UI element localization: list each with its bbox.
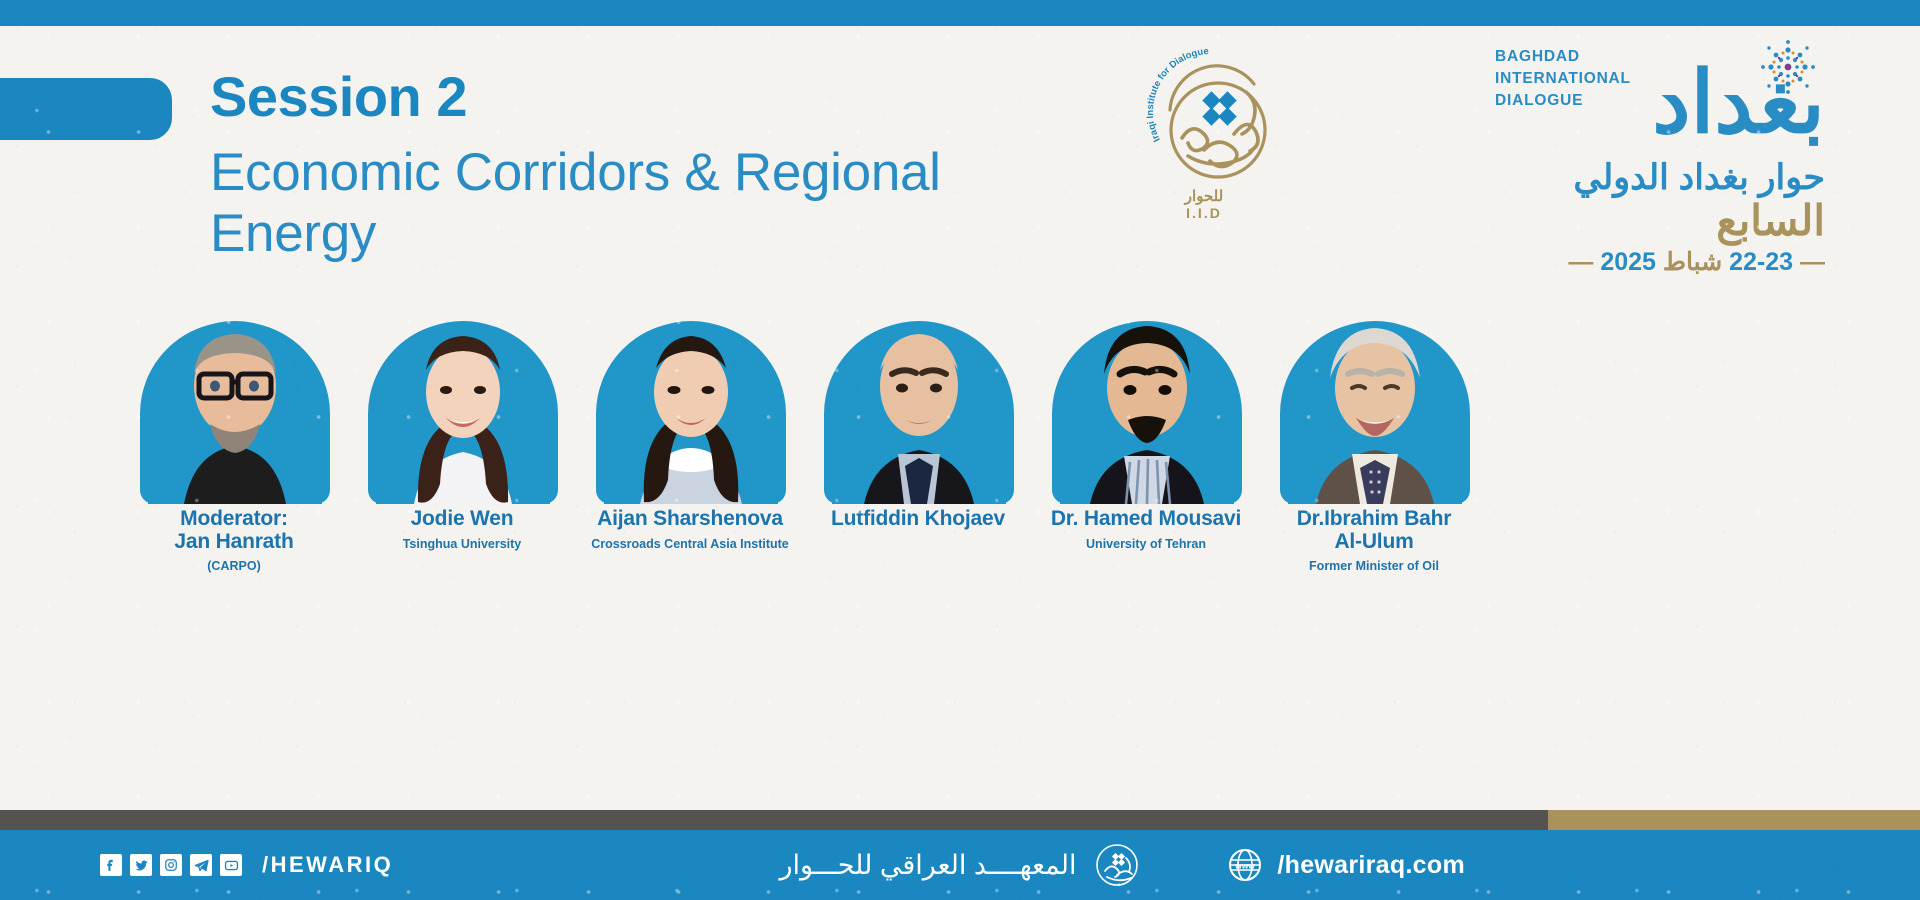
instagram-icon[interactable] (160, 854, 182, 876)
youtube-icon[interactable] (220, 854, 242, 876)
speaker-name: Dr.Ibrahim Bahr Al-Ulum (1246, 508, 1502, 553)
speaker-name-block: Aijan Sharshenova Crossroads Central Asi… (562, 508, 818, 551)
speaker-name-block: Lutfiddin Khojaev (790, 508, 1046, 531)
speaker-photo (1044, 312, 1249, 504)
portrait-ibrahim-bahr-al-ulum (1272, 312, 1477, 504)
accent-bar-gray (0, 810, 1548, 830)
speaker-photo (816, 312, 1021, 504)
heading-block: Session 2 Economic Corridors & Regional … (210, 68, 1110, 265)
baghdad-international-dialogue-logo: BAGHDAD INTERNATIONAL DIALOGUE (1495, 28, 1825, 278)
iid-arabic-word: للحوار (1184, 188, 1223, 205)
speaker-card[interactable]: Dr.Ibrahim Bahr Al-Ulum Former Minister … (1260, 312, 1488, 504)
iid-mark-icon: I.I.D (1093, 841, 1141, 889)
speaker-org: Former Minister of Oil (1246, 560, 1502, 574)
svg-text:I.I.D: I.I.D (1113, 882, 1120, 887)
date-year: 2025 (1600, 248, 1656, 276)
speaker-name-block: Dr.Ibrahim Bahr Al-Ulum Former Minister … (1246, 508, 1502, 574)
speaker-org: Tsinghua University (334, 538, 590, 552)
top-accent-bar (0, 0, 1920, 26)
session-poster: Session 2 Economic Corridors & Regional … (0, 0, 1920, 900)
speaker-card[interactable]: Dr. Hamed Mousavi University of Tehran (1032, 312, 1260, 504)
speaker-card[interactable]: Aijan Sharshenova Crossroads Central Asi… (576, 312, 804, 504)
iid-abbrev: I.I.D (1186, 205, 1222, 221)
footer-bar: /HEWARIQ المعهــــد العراقي للحـــوار (0, 830, 1920, 900)
speaker-name: Jodie Wen (334, 508, 590, 531)
date-month: شباط (1663, 248, 1722, 276)
date-dash-right: — (1800, 248, 1825, 276)
speaker-name: Lutfiddin Khojaev (790, 508, 1046, 531)
bid-arabic-ordinal: السابع (1495, 200, 1825, 242)
speaker-photo (360, 312, 565, 504)
speaker-org: (CARPO) (106, 560, 362, 574)
session-label: Session 2 (210, 68, 1110, 127)
speaker-name-block: Jodie Wen Tsinghua University (334, 508, 590, 551)
date-days: 22-23 (1729, 248, 1793, 276)
portrait-hamed-mousavi (1044, 312, 1249, 504)
speaker-name: Moderator: Jan Hanrath (106, 508, 362, 553)
portrait-jodie-wen (360, 312, 565, 504)
www-globe-icon: www (1227, 847, 1263, 883)
website-url[interactable]: /hewariraq.com (1277, 851, 1465, 880)
speaker-name: Aijan Sharshenova (562, 508, 818, 531)
event-date: — 22-23 شباط 2025 — (1495, 250, 1825, 275)
facebook-icon[interactable] (100, 854, 122, 876)
bid-arabic-subtitle: حوار بغداد الدولي (1495, 160, 1825, 195)
speaker-photo (132, 312, 337, 504)
speaker-card[interactable]: Jodie Wen Tsinghua University (348, 312, 576, 504)
footer-arabic-name: المعهــــد العراقي للحـــوار (780, 850, 1077, 881)
speaker-name: Dr. Hamed Mousavi (1018, 508, 1274, 531)
accent-bar-gold (1548, 810, 1920, 830)
bid-arabic-wordmark: بغداد (1495, 64, 1825, 143)
date-dash-left: — (1568, 248, 1593, 276)
social-handle[interactable]: /HEWARIQ (262, 852, 393, 878)
speaker-photo (1272, 312, 1477, 504)
speaker-name-block: Moderator: Jan Hanrath (CARPO) (106, 508, 362, 574)
portrait-aijan-sharshenova (588, 312, 793, 504)
speaker-org: Crossroads Central Asia Institute (562, 538, 818, 552)
speaker-list: Moderator: Jan Hanrath (CARPO) (120, 312, 1820, 612)
iraqi-institute-for-dialogue-logo: للحوار I.I.D Iraqi Institute for Dialogu… (1142, 38, 1312, 228)
social-links: /HEWARIQ (100, 830, 393, 900)
portrait-lutfiddin-khojaev (816, 312, 1021, 504)
footer-accent-bar (0, 810, 1920, 830)
speaker-org: University of Tehran (1018, 538, 1274, 552)
website-link[interactable]: www /hewariraq.com (1227, 830, 1465, 900)
telegram-icon[interactable] (190, 854, 212, 876)
svg-text:www: www (1234, 861, 1255, 871)
speaker-name-block: Dr. Hamed Mousavi University of Tehran (1018, 508, 1274, 551)
speaker-card[interactable]: Moderator: Jan Hanrath (CARPO) (120, 312, 348, 504)
portrait-jan-hanrath (132, 312, 337, 504)
page-title: Economic Corridors & Regional Energy (210, 143, 1080, 265)
session-tab-marker (0, 78, 172, 140)
speaker-photo (588, 312, 793, 504)
speaker-card[interactable]: Lutfiddin Khojaev (804, 312, 1032, 504)
twitter-icon[interactable] (130, 854, 152, 876)
